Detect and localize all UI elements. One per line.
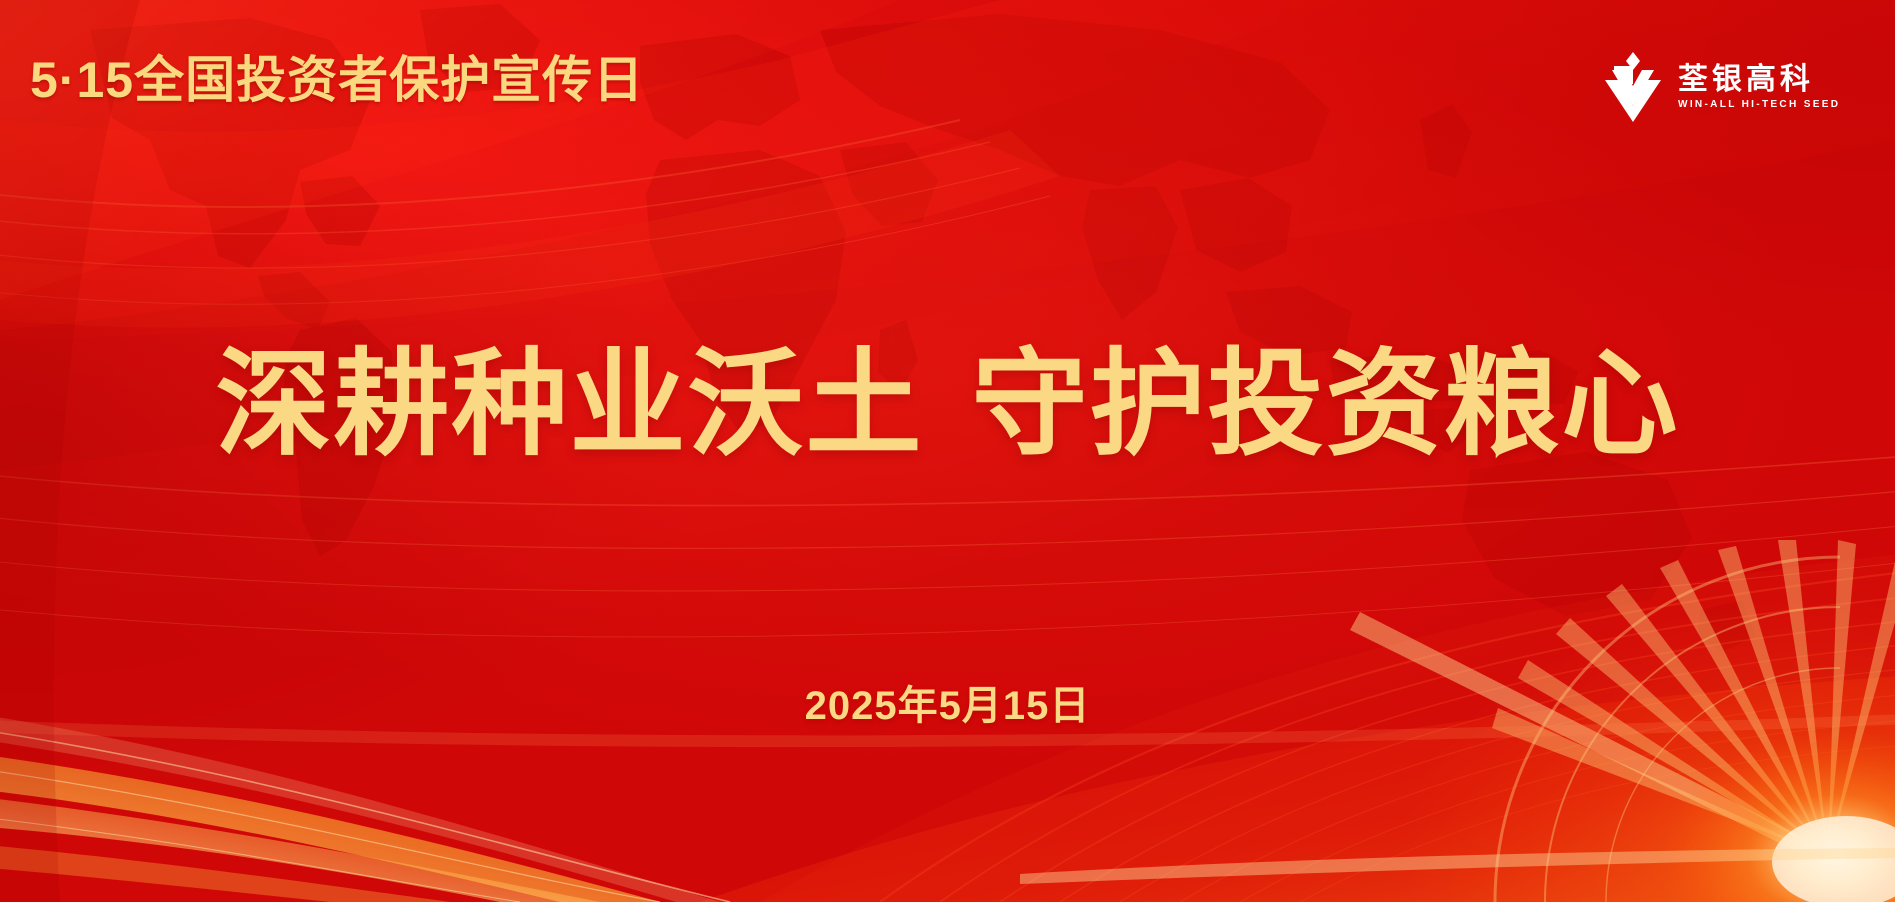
logo-wordmark: 荃银高科 WIN-ALL HI-TECH SEED [1678,65,1847,110]
headline-part-1: 深耕种业沃土 [216,339,924,469]
win-all-chevron-mark [1604,50,1662,124]
event-date: 2025年5月15日 [0,686,1895,726]
banner-canvas: 5·15全国投资者保护宣传日 荃银高科 WIN-ALL HI-TECH SEED… [0,0,1895,902]
logo-name-cn: 荃银高科 [1678,65,1847,95]
main-headline: 深耕种业沃土守护投资粮心 [0,338,1895,471]
logo-name-en: WIN-ALL HI-TECH SEED [1678,99,1840,110]
headline-part-2: 守护投资粮心 [972,339,1680,469]
company-logo: 荃银高科 WIN-ALL HI-TECH SEED [1604,50,1847,124]
campaign-eyebrow-title: 5·15全国投资者保护宣传日 [30,54,644,107]
